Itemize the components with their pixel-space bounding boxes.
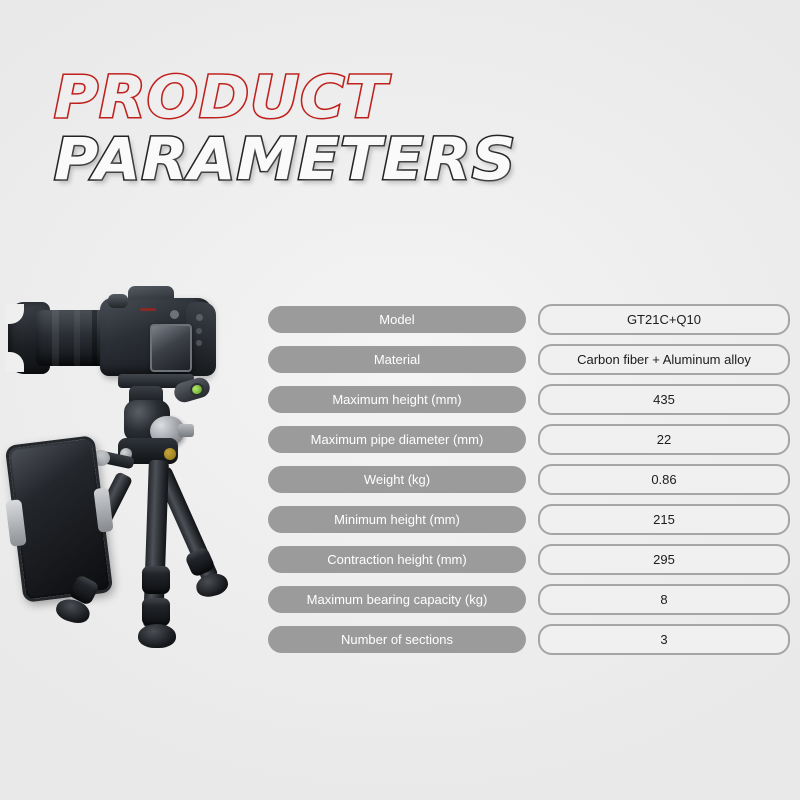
tripod-hub-bolt-right bbox=[164, 448, 176, 460]
product-parameters-page: PRODUCT PARAMETERS bbox=[0, 0, 800, 800]
spec-label: Weight (kg) bbox=[268, 466, 526, 493]
spec-row: ModelGT21C+Q10 bbox=[268, 306, 790, 333]
camera-lcd-screen bbox=[150, 324, 192, 372]
spec-label: Contraction height (mm) bbox=[268, 546, 526, 573]
spec-value: 22 bbox=[538, 424, 790, 455]
camera-accent-stripe bbox=[140, 308, 156, 311]
tripod-foot-center bbox=[138, 624, 176, 648]
spec-value: 8 bbox=[538, 584, 790, 615]
spec-label: Maximum pipe diameter (mm) bbox=[268, 426, 526, 453]
page-title: PRODUCT PARAMETERS bbox=[54, 62, 574, 207]
lens-focus-ring bbox=[52, 310, 59, 366]
camera-button-quaternary bbox=[196, 340, 202, 346]
spec-label: Minimum height (mm) bbox=[268, 506, 526, 533]
camera-button-primary bbox=[170, 310, 179, 319]
camera-lens bbox=[36, 310, 110, 366]
spec-value: 3 bbox=[538, 624, 790, 655]
spec-value: GT21C+Q10 bbox=[538, 304, 790, 335]
leg-lock-collar-center-upper bbox=[142, 566, 170, 594]
lens-zoom-ring bbox=[74, 310, 80, 366]
spec-row: Weight (kg)0.86 bbox=[268, 466, 790, 493]
leg-lock-collar-center-lower bbox=[142, 598, 170, 626]
spec-label: Maximum height (mm) bbox=[268, 386, 526, 413]
spec-value: 215 bbox=[538, 504, 790, 535]
spec-value: Carbon fiber + Aluminum alloy bbox=[538, 344, 790, 375]
camera-button-tertiary bbox=[196, 328, 202, 334]
specification-table: ModelGT21C+Q10MaterialCarbon fiber + Alu… bbox=[268, 306, 790, 666]
ball-head-knob-stem bbox=[178, 424, 194, 437]
spec-label: Material bbox=[268, 346, 526, 373]
spec-value: 295 bbox=[538, 544, 790, 575]
spec-row: Maximum bearing capacity (kg)8 bbox=[268, 586, 790, 613]
spec-row: MaterialCarbon fiber + Aluminum alloy bbox=[268, 346, 790, 373]
spec-label: Number of sections bbox=[268, 626, 526, 653]
title-line-product: PRODUCT bbox=[54, 66, 388, 128]
title-line-parameters: PARAMETERS bbox=[54, 128, 516, 190]
spec-row: Number of sections3 bbox=[268, 626, 790, 653]
lens-mount-ring bbox=[92, 310, 97, 366]
spec-label: Model bbox=[268, 306, 526, 333]
spec-value: 0.86 bbox=[538, 464, 790, 495]
spec-row: Maximum pipe diameter (mm)22 bbox=[268, 426, 790, 453]
product-photo-tripod-camera bbox=[0, 288, 252, 708]
camera-button-secondary bbox=[196, 314, 203, 321]
camera-mode-dial bbox=[108, 294, 128, 308]
spec-value: 435 bbox=[538, 384, 790, 415]
spec-row: Maximum height (mm)435 bbox=[268, 386, 790, 413]
spec-row: Minimum height (mm)215 bbox=[268, 506, 790, 533]
spec-label: Maximum bearing capacity (kg) bbox=[268, 586, 526, 613]
spec-row: Contraction height (mm)295 bbox=[268, 546, 790, 573]
